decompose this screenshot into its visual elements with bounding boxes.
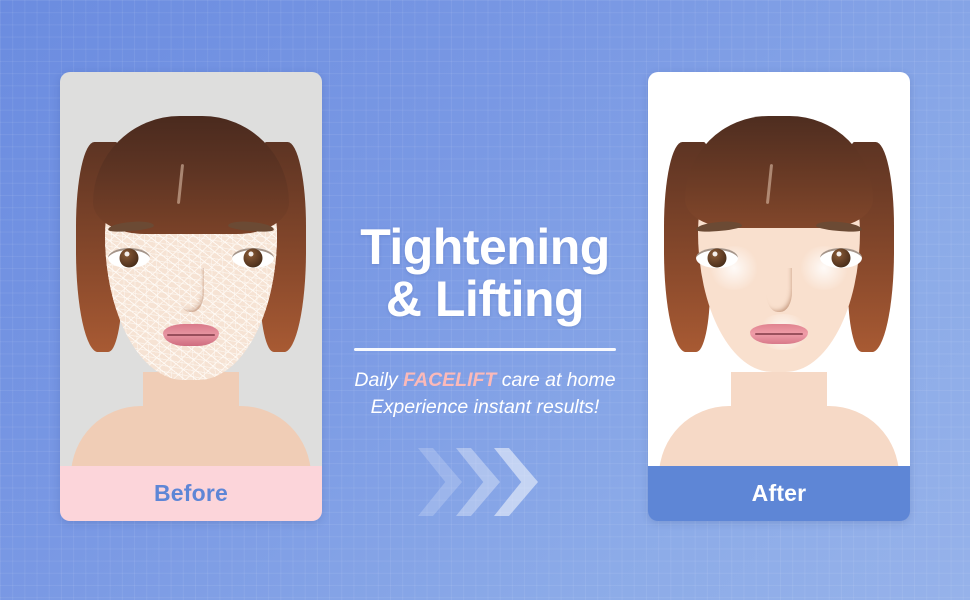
iris-left (120, 249, 139, 268)
before-photo (60, 72, 322, 466)
eye-left (696, 248, 738, 268)
after-photo (648, 72, 910, 466)
page-title: Tightening & Lifting (360, 222, 610, 325)
before-face-illustration (60, 72, 322, 466)
chevron-right-icon (418, 448, 462, 516)
lips (750, 324, 808, 344)
neck (731, 372, 827, 466)
before-label: Before (60, 466, 322, 521)
iris-left (708, 249, 727, 268)
progression-chevrons (418, 448, 568, 518)
chevron-right-icon (494, 448, 538, 516)
hair-top (685, 116, 873, 228)
after-face-illustration (648, 72, 910, 466)
iris-right (832, 249, 851, 268)
subtitle-line-2: Experience instant results! (354, 394, 615, 421)
hair-part (177, 164, 184, 204)
after-card[interactable]: After (648, 72, 910, 521)
neck (143, 372, 239, 466)
hair-part (766, 164, 773, 204)
divider (354, 348, 616, 351)
nose (766, 268, 792, 312)
nose (178, 268, 204, 312)
subtitle-suffix: care at home (496, 369, 615, 391)
subtitle-line-1: Daily FACELIFT care at home (354, 367, 615, 394)
lips (163, 324, 219, 346)
eye-right (232, 248, 274, 268)
subtitle-prefix: Daily (354, 369, 403, 391)
eye-left (108, 248, 150, 268)
headline-line-2: & Lifting (360, 274, 610, 326)
headline-line-1: Tightening (360, 222, 610, 274)
eye-right (820, 248, 862, 268)
chevron-right-icon (456, 448, 500, 516)
subtitle-highlight: FACELIFT (403, 369, 496, 391)
before-card[interactable]: Before (60, 72, 322, 521)
promo-banner: Before (0, 0, 970, 600)
after-label: After (648, 466, 910, 521)
subtitle: Daily FACELIFT care at home Experience i… (354, 367, 615, 420)
iris-right (244, 249, 263, 268)
